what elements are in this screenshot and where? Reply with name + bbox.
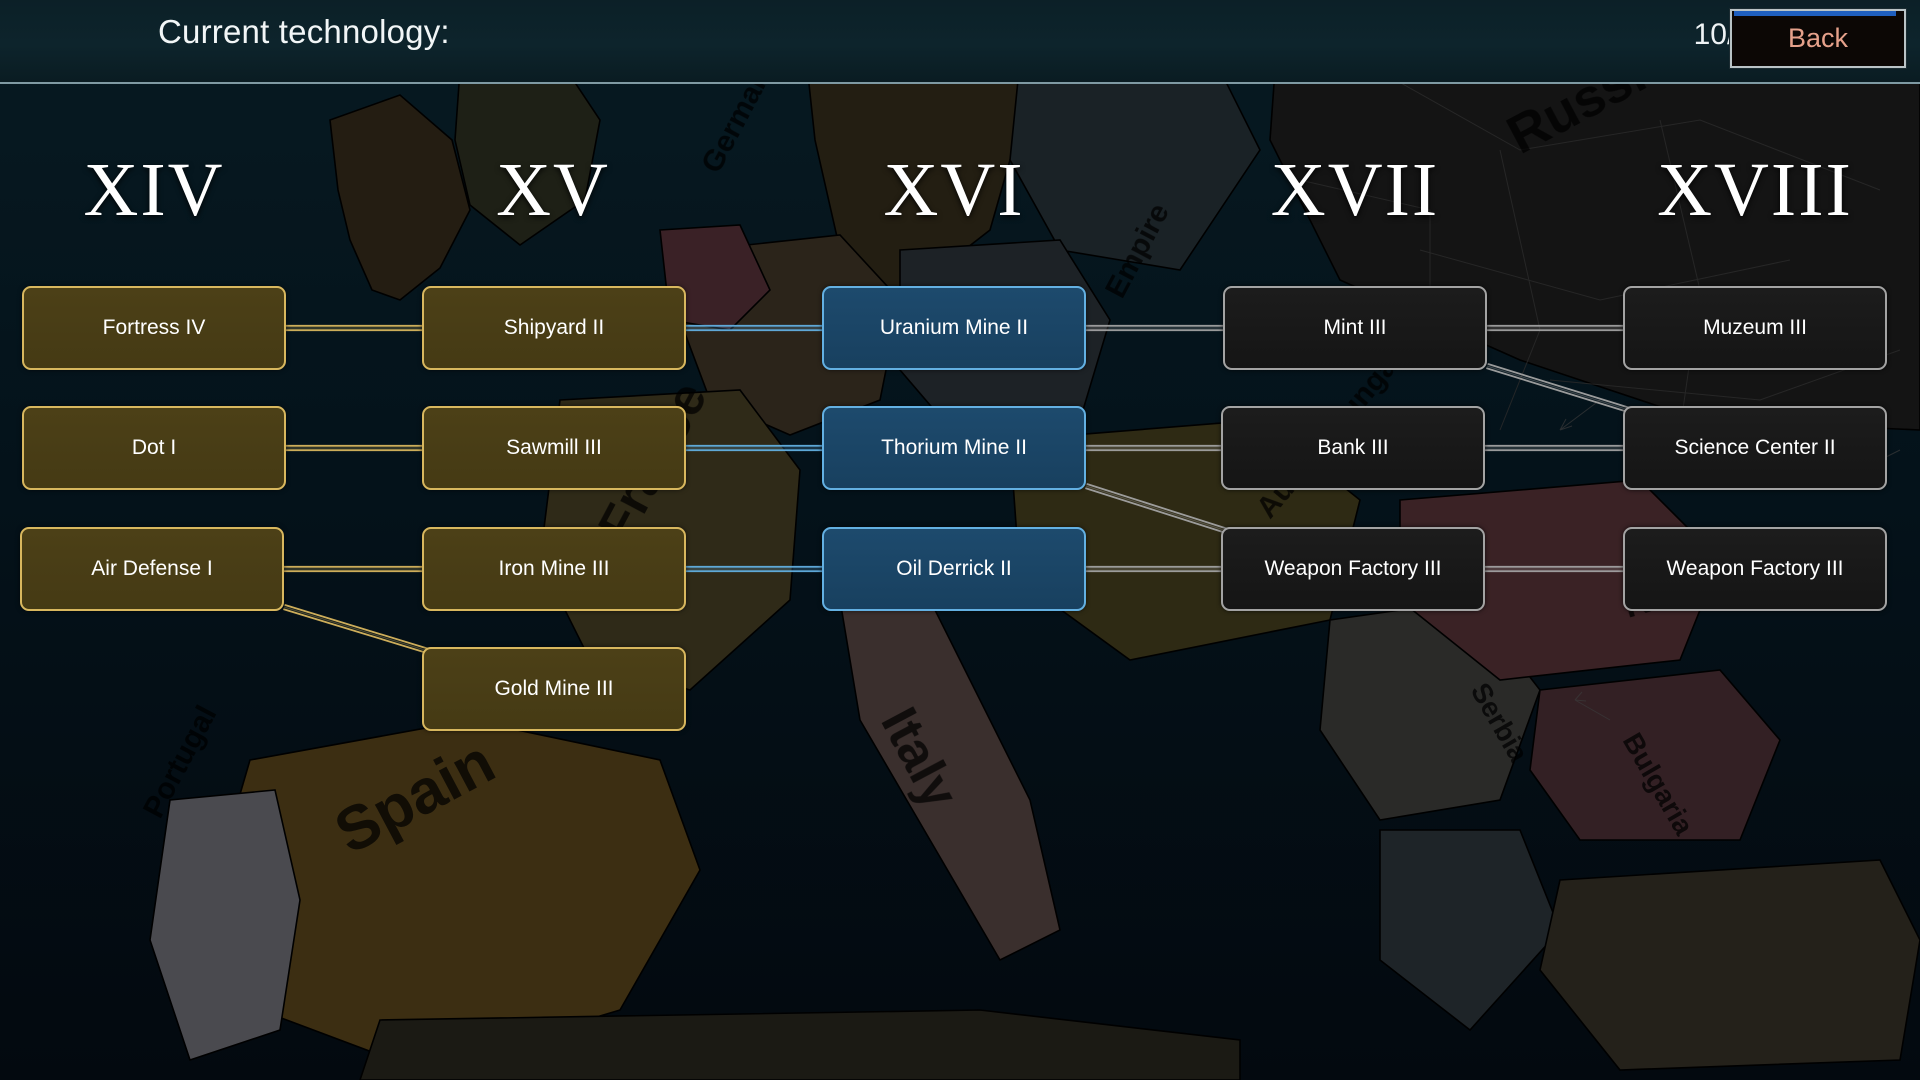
connector-shipyard-ii-to-uranium-mine-ii [686, 326, 822, 330]
connector-air-defense-i-to-gold-mine-iii [283, 605, 428, 653]
tech-node-label: Fortress IV [95, 316, 214, 340]
tech-node-label: Mint III [1315, 316, 1394, 340]
tech-node-dot-i[interactable]: Dot I [22, 406, 286, 490]
era-label-xviii: XVIII [1657, 152, 1853, 228]
tech-node-label: Dot I [124, 436, 184, 460]
connector-mint-iii-to-science-center-ii [1486, 364, 1629, 412]
tech-node-weapon-factory-iii-a[interactable]: Weapon Factory III [1221, 527, 1485, 611]
tech-node-iron-mine-iii[interactable]: Iron Mine III [422, 527, 686, 611]
tech-node-label: Uranium Mine II [872, 316, 1036, 340]
connector-thorium-mine-ii-to-bank-iii [1086, 446, 1221, 450]
era-label-xv: XV [496, 152, 610, 228]
tech-node-thorium-mine-ii[interactable]: Thorium Mine II [822, 406, 1086, 490]
tech-node-muzeum-iii[interactable]: Muzeum III [1623, 286, 1887, 370]
tech-node-bank-iii[interactable]: Bank III [1221, 406, 1485, 490]
connector-air-defense-i-to-iron-mine-iii [284, 567, 422, 571]
tech-tree: XIVXVXVIXVIIXVIII Fortress IVDot IAir De… [0, 82, 1920, 1080]
connector-thorium-mine-ii-to-weapon-factory-iii-a [1085, 484, 1227, 533]
tech-node-label: Gold Mine III [486, 677, 621, 701]
connector-oil-derrick-ii-to-weapon-factory-iii-a [1086, 567, 1221, 571]
tech-node-science-center-ii[interactable]: Science Center II [1623, 406, 1887, 490]
tech-node-mint-iii[interactable]: Mint III [1223, 286, 1487, 370]
connector-iron-mine-iii-to-oil-derrick-ii [686, 567, 822, 571]
era-label-xvi: XVI [883, 152, 1024, 228]
tech-node-label: Shipyard II [496, 316, 612, 340]
tech-node-air-defense-i[interactable]: Air Defense I [20, 527, 284, 611]
back-button-label: Back [1788, 25, 1848, 52]
tech-node-gold-mine-iii[interactable]: Gold Mine III [422, 647, 686, 731]
tech-node-label: Muzeum III [1695, 316, 1815, 340]
tech-node-oil-derrick-ii[interactable]: Oil Derrick II [822, 527, 1086, 611]
connector-sawmill-iii-to-thorium-mine-ii [686, 446, 822, 450]
tech-node-label: Science Center II [1666, 436, 1843, 460]
tech-node-label: Weapon Factory III [1658, 557, 1851, 581]
connector-mint-iii-to-muzeum-iii [1487, 326, 1623, 330]
page-title: Current technology: [158, 13, 450, 51]
tech-node-label: Bank III [1309, 436, 1396, 460]
connector-bank-iii-to-science-center-ii [1485, 446, 1623, 450]
tech-node-uranium-mine-ii[interactable]: Uranium Mine II [822, 286, 1086, 370]
tech-node-weapon-factory-iii-b[interactable]: Weapon Factory III [1623, 527, 1887, 611]
connector-uranium-mine-ii-to-mint-iii [1086, 326, 1223, 330]
era-label-xvii: XVII [1271, 152, 1439, 228]
top-bar: Current technology: 10/0 Back [0, 0, 1920, 84]
connector-fortress-iv-to-shipyard-ii [286, 326, 422, 330]
connector-weapon-factory-iii-a-to-weapon-factory-iii-b [1485, 567, 1623, 571]
tech-node-fortress-iv[interactable]: Fortress IV [22, 286, 286, 370]
tech-node-shipyard-ii[interactable]: Shipyard II [422, 286, 686, 370]
tech-node-sawmill-iii[interactable]: Sawmill III [422, 406, 686, 490]
era-label-xiv: XIV [83, 152, 224, 228]
tech-node-label: Air Defense I [83, 557, 220, 581]
tech-node-label: Iron Mine III [491, 557, 618, 581]
connector-dot-i-to-sawmill-iii [286, 446, 422, 450]
back-button-accent-bar [1734, 11, 1896, 16]
back-button[interactable]: Back [1730, 9, 1906, 68]
tech-node-label: Thorium Mine II [873, 436, 1035, 460]
tech-node-label: Sawmill III [498, 436, 610, 460]
tech-node-label: Weapon Factory III [1256, 557, 1449, 581]
tech-node-label: Oil Derrick II [888, 557, 1020, 581]
